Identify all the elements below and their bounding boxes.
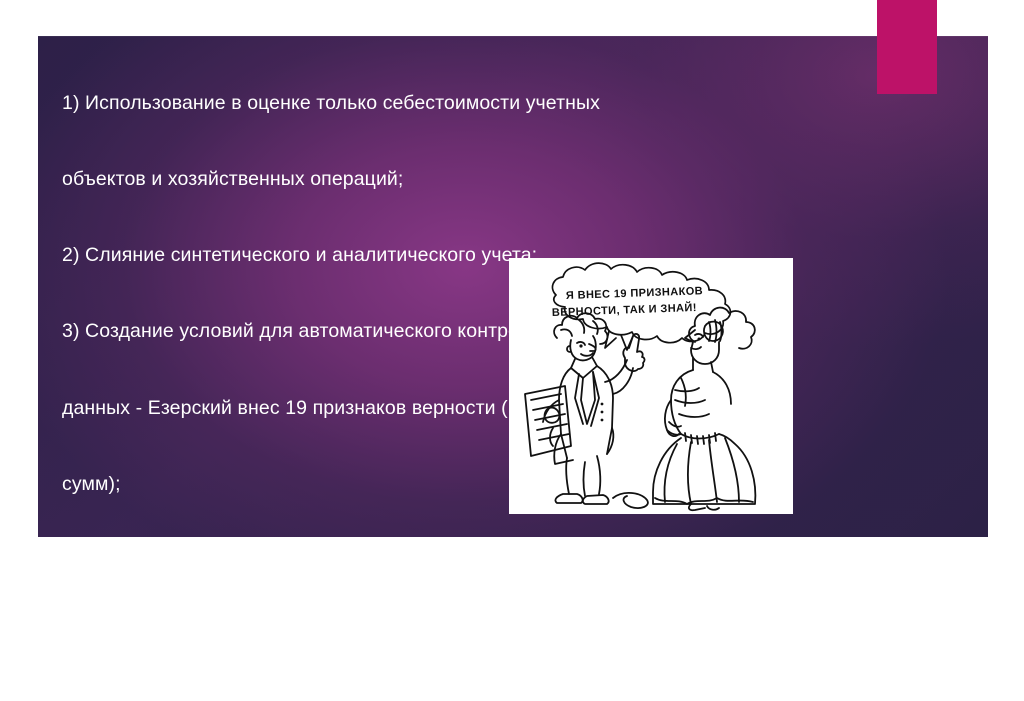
cartoon-drawing: Я ВНЕС 19 ПРИЗНАКОВ ВЕРНОСТИ, ТАК И ЗНАЙ… [509, 258, 793, 514]
cartoon-illustration: Я ВНЕС 19 ПРИЗНАКОВ ВЕРНОСТИ, ТАК И ЗНАЙ… [509, 258, 793, 514]
bullet-line-1: 1) Использование в оценке только себесто… [62, 91, 792, 116]
bullet-line-7: 4) Проведение ежедневных инвентаризаций … [62, 548, 792, 573]
accent-block [877, 0, 937, 94]
slide-canvas: 1) Использование в оценке только себесто… [0, 0, 1024, 574]
bullet-line-8: наименованиям; [62, 624, 792, 649]
content-panel: 1) Использование в оценке только себесто… [38, 36, 988, 537]
bullet-line-2: объектов и хозяйственных операций; [62, 167, 792, 192]
